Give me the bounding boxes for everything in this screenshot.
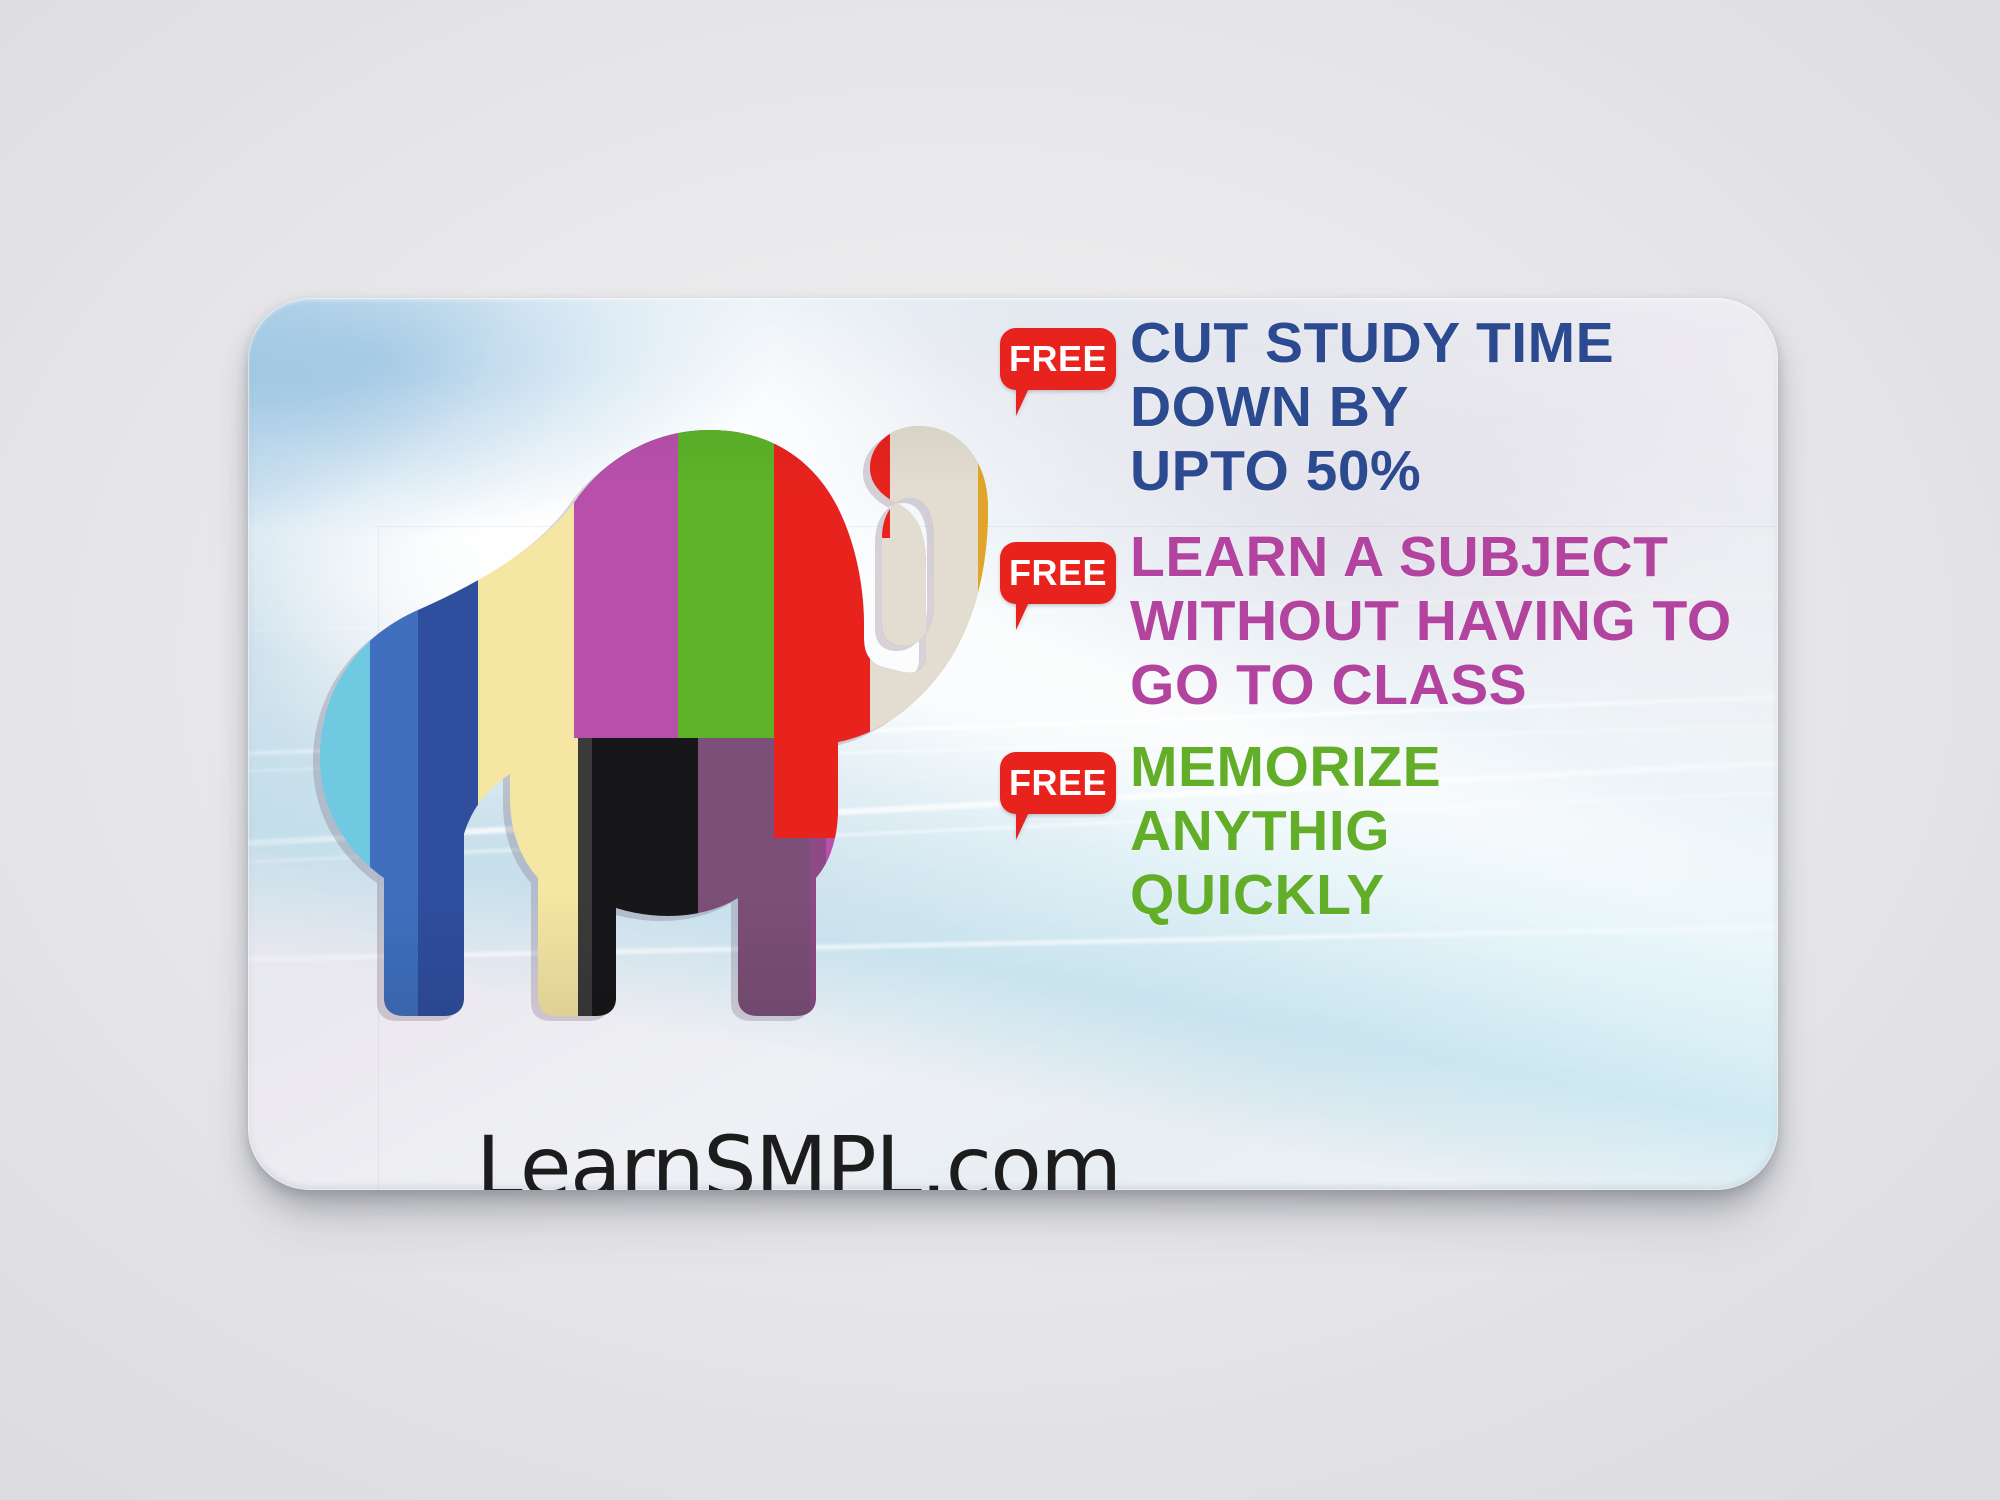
free-badge-wrapper: FREE [1000, 328, 1130, 390]
free-badge-label: FREE [1009, 341, 1107, 377]
free-badge[interactable]: FREE [1000, 328, 1116, 390]
benefit-row: FREE CUT STUDY TIME DOWN BY UPTO 50% [1000, 312, 1614, 503]
speech-bubble-tail-icon [1016, 810, 1040, 840]
benefit-headline: LEARN A SUBJECT WITHOUT HAVING TO GO TO … [1130, 526, 1732, 717]
free-badge[interactable]: FREE [1000, 752, 1116, 814]
promo-card: LearnSMPL.com FREE CUT STUDY TIME DOWN B… [248, 298, 1778, 1190]
benefit-row: FREE MEMORIZE ANYTHIG QUICKLY [1000, 736, 1441, 927]
benefit-headline: CUT STUDY TIME DOWN BY UPTO 50% [1130, 312, 1614, 503]
page-backdrop: LearnSMPL.com FREE CUT STUDY TIME DOWN B… [0, 0, 2000, 1500]
free-badge-wrapper: FREE [1000, 542, 1130, 604]
free-badge[interactable]: FREE [1000, 542, 1116, 604]
brand-logotype: LearnSMPL.com [476, 1118, 1121, 1190]
speech-bubble-tail-icon [1016, 386, 1040, 416]
benefit-row: FREE LEARN A SUBJECT WITHOUT HAVING TO G… [1000, 526, 1732, 717]
free-badge-wrapper: FREE [1000, 752, 1130, 814]
elephant-mascot-icon [258, 338, 1018, 1028]
speech-bubble-tail-icon [1016, 600, 1040, 630]
benefit-headline: MEMORIZE ANYTHIG QUICKLY [1130, 736, 1441, 927]
free-badge-label: FREE [1009, 765, 1107, 801]
free-badge-label: FREE [1009, 555, 1107, 591]
